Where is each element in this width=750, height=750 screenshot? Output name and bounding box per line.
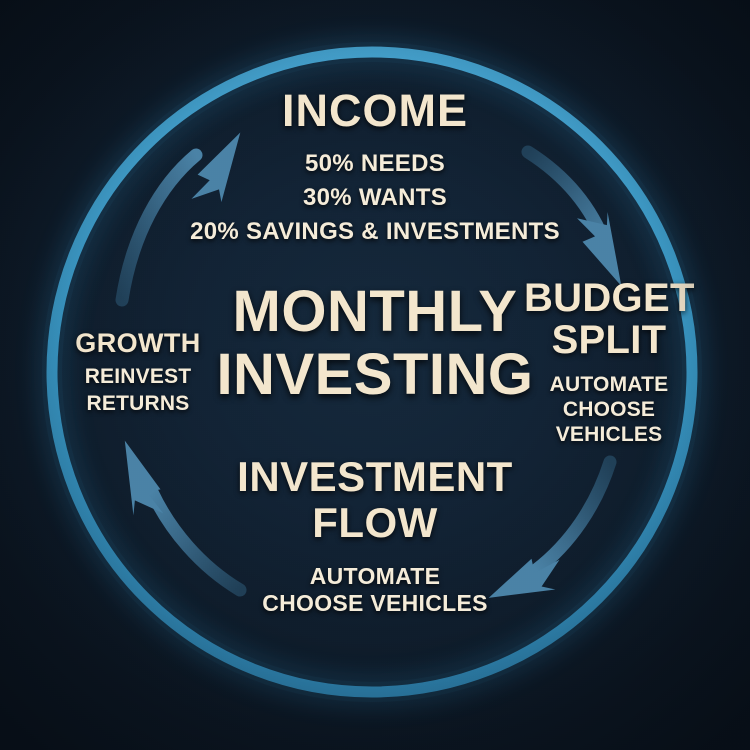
budget-line-vehicles: VEHICLES — [524, 422, 694, 447]
flow-title-line-2: FLOW — [0, 502, 750, 545]
node-budget-split: BUDGET SPLIT AUTOMATE CHOOSE VEHICLES — [524, 278, 694, 448]
budget-title-line-2: SPLIT — [524, 320, 694, 360]
growth-line-returns: RETURNS — [68, 392, 208, 417]
growth-title: GROWTH — [68, 330, 208, 357]
income-line-needs: 50% NEEDS — [0, 151, 750, 176]
budget-line-automate: AUTOMATE — [524, 372, 694, 397]
income-title: INCOME — [0, 88, 750, 133]
budget-line-choose: CHOOSE — [524, 397, 694, 422]
budget-title-line-1: BUDGET — [524, 278, 694, 318]
flow-line-choose-vehicles: CHOOSE VEHICLES — [0, 590, 750, 618]
flow-title-line-1: INVESTMENT — [0, 456, 750, 499]
income-line-savings: 20% SAVINGS & INVESTMENTS — [0, 219, 750, 244]
node-income: INCOME 50% NEEDS 30% WANTS 20% SAVINGS &… — [0, 88, 750, 245]
node-growth: GROWTH REINVEST RETURNS — [68, 330, 208, 417]
infographic-canvas: INCOME 50% NEEDS 30% WANTS 20% SAVINGS &… — [0, 0, 750, 750]
income-line-wants: 30% WANTS — [0, 185, 750, 210]
growth-line-reinvest: REINVEST — [68, 365, 208, 390]
node-investment-flow: INVESTMENT FLOW AUTOMATE CHOOSE VEHICLES — [0, 456, 750, 618]
flow-line-automate: AUTOMATE — [0, 563, 750, 591]
